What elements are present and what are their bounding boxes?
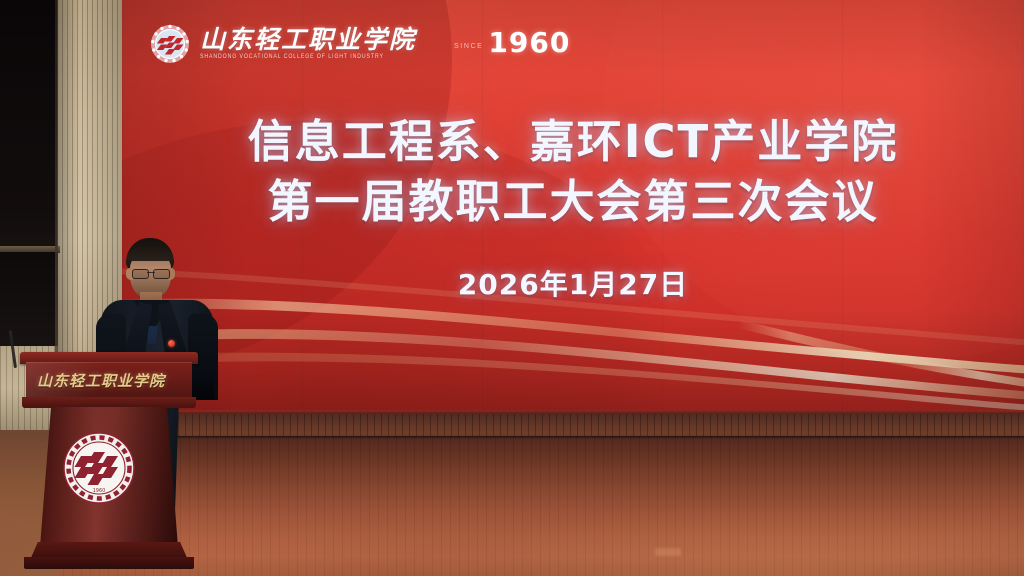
college-seal-emblem: 1960 [61,430,137,506]
banner-title-line-1: 信息工程系、嘉环ICT产业学院 [122,112,1024,172]
floor-marking [655,548,681,556]
glasses-lens-left [132,269,149,279]
banner-title-line-2: 第一届教职工大会第三次会议 [122,172,1024,232]
banner-date: 2026年1月27日 [122,263,1024,303]
podium-base-plinth [24,557,194,569]
glasses-lens-right [153,269,170,279]
speaker-fringe [127,246,173,261]
speaker-glasses [132,269,170,277]
speaker-lapel-pin [168,340,175,347]
logo-english-name: SHANDONG VOCATIONAL COLLEGE OF LIGHT IND… [200,54,416,61]
logo-chinese-name: 山东轻工职业学院 [200,28,416,53]
podium-front-text: 山东轻工职业学院 [18,362,184,398]
svg-text:1960: 1960 [93,488,106,494]
stage-photo-scene: 山东轻工职业学院 SHANDONG VOCATIONAL COLLEGE OF … [0,0,1024,576]
logo-wordmark: 山东轻工职业学院 SHANDONG VOCATIONAL COLLEGE OF … [200,28,416,59]
since-year: 1960 [488,31,570,55]
since-label: SINCE [454,43,483,50]
podium-shelf [22,397,196,408]
college-logo-lockup: 山东轻工职业学院 SHANDONG VOCATIONAL COLLEGE OF … [150,24,570,64]
since-block: SINCE 1960 [454,31,570,57]
college-crest-icon [150,24,190,64]
banner-title-block: 信息工程系、嘉环ICT产业学院 第一届教职工大会第三次会议 2026年1月27日 [122,112,1024,303]
